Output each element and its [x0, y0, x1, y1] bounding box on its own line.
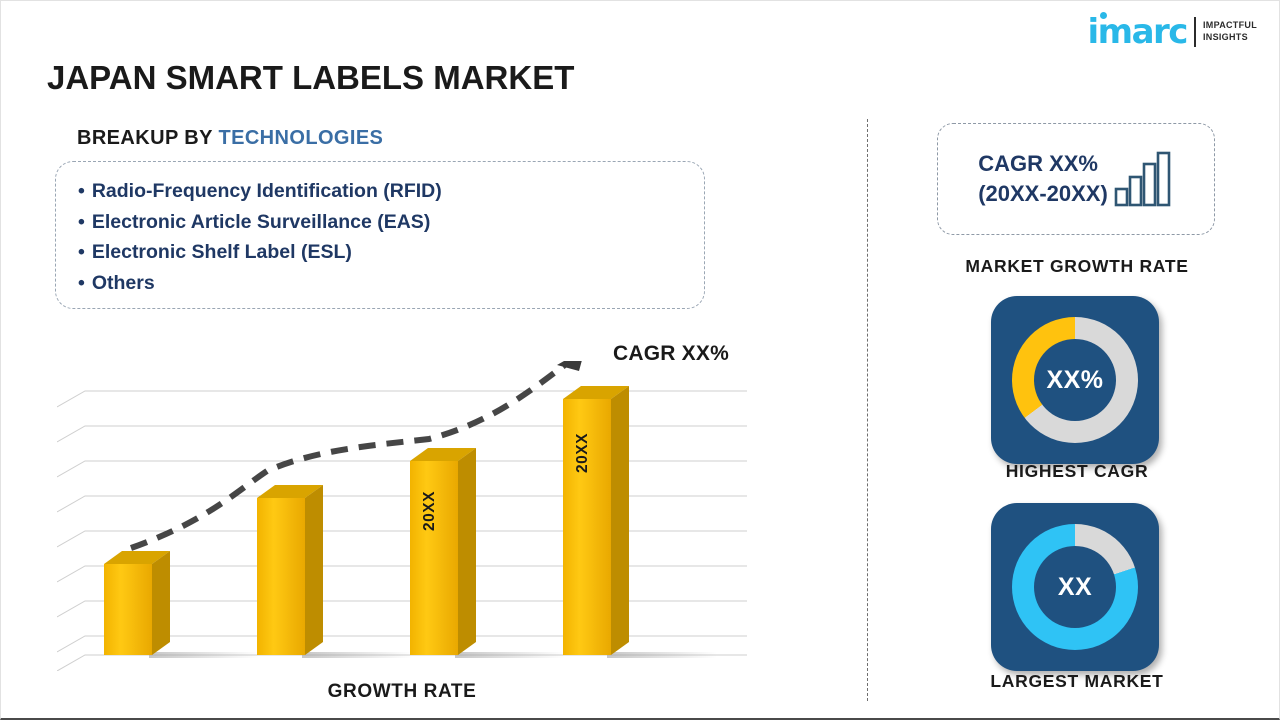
growth-bar-chart: 20XX 20XX: [57, 361, 747, 671]
logo-dot-icon: [1100, 12, 1107, 19]
list-item: Electronic Article Surveillance (EAS): [78, 207, 704, 238]
logo-divider: [1194, 17, 1196, 47]
highest-cagr-caption: HIGHEST CAGR: [927, 461, 1227, 482]
logo-tagline: IMPACTFUL INSIGHTS: [1203, 20, 1257, 43]
segment-list: Radio-Frequency Identification (RFID) El…: [78, 176, 704, 298]
chart-bar-label: 20XX: [421, 491, 438, 531]
page-title: JAPAN SMART LABELS MARKET: [47, 59, 574, 97]
chart-bar: 20XX: [563, 386, 629, 655]
chart-cagr-annotation: CAGR XX%: [613, 342, 729, 366]
largest-market-donut: XX: [1012, 524, 1138, 650]
highest-cagr-card: XX%: [991, 296, 1159, 464]
imarc-logo: imarc IMPACTFUL INSIGHTS: [1088, 15, 1257, 49]
breakup-heading: BREAKUP BY TECHNOLOGIES: [77, 127, 383, 150]
cagr-line2: (20XX-20XX): [978, 179, 1108, 209]
largest-market-value: XX: [1058, 573, 1092, 602]
breakup-heading-prefix: BREAKUP BY: [77, 127, 218, 149]
imarc-wordmark: imarc: [1088, 15, 1187, 49]
largest-market-caption: LARGEST MARKET: [927, 671, 1227, 692]
chart-bar: [104, 551, 170, 655]
section-divider: [867, 119, 868, 701]
market-growth-rate-caption: MARKET GROWTH RATE: [927, 256, 1227, 277]
chart-bar: 20XX: [410, 448, 476, 655]
highest-cagr-donut: XX%: [1012, 317, 1138, 443]
list-item: Others: [78, 268, 704, 299]
chart-bar-label: 20XX: [574, 433, 591, 473]
logo-tagline-line2: INSIGHTS: [1203, 32, 1257, 44]
logo-tagline-line1: IMPACTFUL: [1203, 20, 1257, 32]
chart-trendline: [131, 361, 585, 548]
market-growth-rate-box: CAGR XX% (20XX-20XX): [937, 123, 1215, 235]
highest-cagr-value: XX%: [1046, 366, 1103, 395]
cagr-text: CAGR XX% (20XX-20XX): [978, 149, 1108, 209]
chart-x-axis-label: GROWTH RATE: [57, 681, 747, 703]
list-item: Radio-Frequency Identification (RFID): [78, 176, 704, 207]
chart-svg: 20XX 20XX: [57, 361, 747, 671]
chart-bar: [257, 485, 323, 655]
largest-market-card: XX: [991, 503, 1159, 671]
list-item: Electronic Shelf Label (ESL): [78, 237, 704, 268]
bar-chart-icon: [1114, 151, 1174, 207]
cagr-line1: CAGR XX%: [978, 149, 1108, 179]
breakup-heading-highlight: TECHNOLOGIES: [218, 127, 383, 149]
segment-list-box: Radio-Frequency Identification (RFID) El…: [55, 161, 705, 309]
